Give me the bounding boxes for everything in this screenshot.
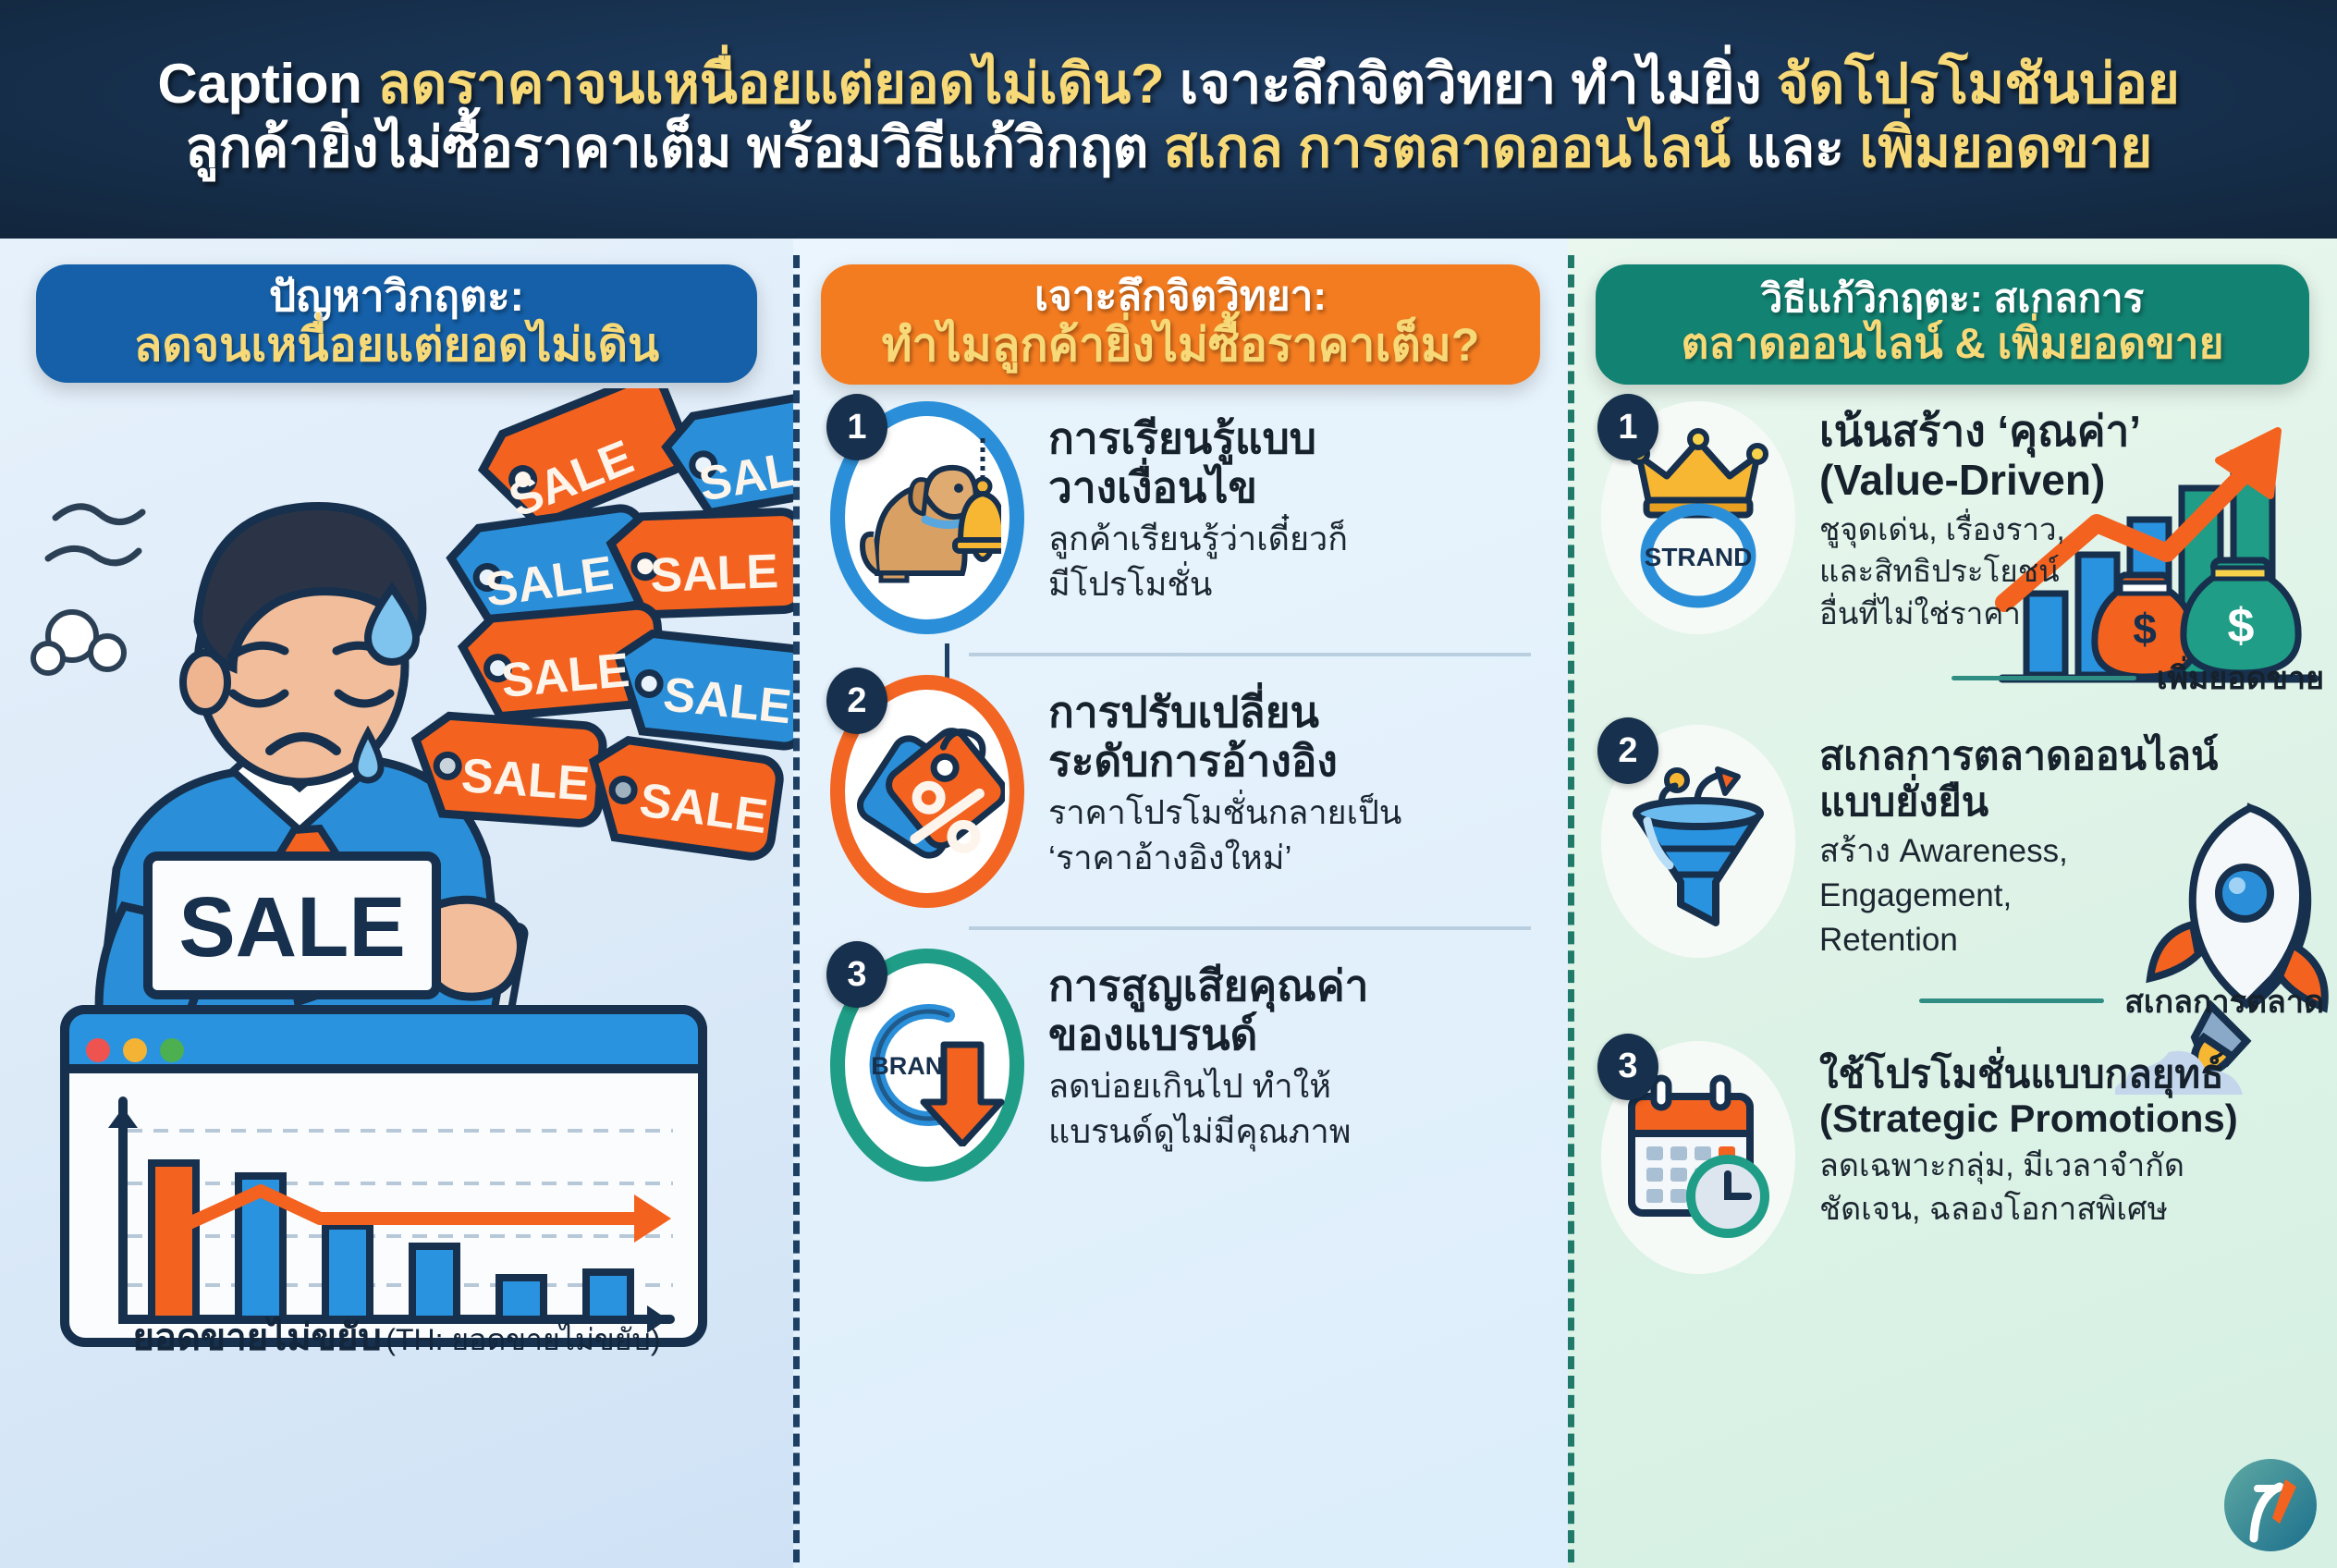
solutions-item-2-mini-label: สเกลการตลาด bbox=[2124, 976, 2324, 1026]
problem-caption: ยอดขายไม่ขยับ (TH: ยอดขายไม่ขยับ) bbox=[0, 1307, 793, 1366]
column-problem-header: ปัญหาวิกฤตะ: ลดจนเหนื่อยแต่ยอดไม่เดิน bbox=[36, 264, 757, 383]
column-problem-subtitle: ลดจนเหนื่อยแต่ยอดไม่เดิน bbox=[134, 319, 659, 371]
solutions-item-2-number: 2 bbox=[1597, 717, 1658, 784]
column-psychology-title: เจาะลึกจิตวิทยา: bbox=[1034, 275, 1327, 319]
strand-badge-label: STRAND bbox=[1645, 543, 1753, 571]
psychology-item-1-title-line2: วางเงื่อนไข bbox=[1048, 463, 1348, 512]
solutions-item-1-desc-line2: และสิทธิประโยชน์ bbox=[1819, 553, 2141, 590]
solutions-item-2-desc-line3: Retention bbox=[1819, 921, 2218, 960]
header-line-2: ลูกค้ายิ่งไม่ซื้อราคาเต็ม พร้อมวิธีแก้วิ… bbox=[28, 118, 2309, 178]
solutions-item-2-title-line1: สเกลการตลาดออนไลน์ bbox=[1819, 734, 2218, 780]
solutions-item-3-title-line1: ใช้โปรโมชั่นแบบกลยุทธ์ bbox=[1819, 1052, 2238, 1097]
psychology-item-3-desc-line2: แบรนด์ดูไม่มีคุณภาพ bbox=[1048, 1111, 1368, 1151]
sale-sign: SALE bbox=[148, 856, 436, 995]
steam-icon bbox=[48, 507, 142, 563]
psychology-item-2-text: การปรับเปลี่ยน ระดับการอ้างอิง ราคาโปรโม… bbox=[1024, 675, 1401, 877]
solutions-item-2-text: สเกลการตลาดออนไลน์ แบบยั่งยืน สร้าง Awar… bbox=[1795, 725, 2218, 960]
column-problem-title: ปัญหาวิกฤตะ: bbox=[269, 273, 524, 320]
problem-caption-sub: (TH: ยอดขายไม่ขยับ) bbox=[385, 1323, 660, 1356]
problem-illustration: SALE SALE SALE SALE SALE SALE SALE SALE bbox=[0, 388, 793, 1387]
column-solutions-header: วิธีแก้วิกฤตะ: สเกลการ ตลาดออนไลน์ & เพิ… bbox=[1596, 264, 2309, 385]
header-highlight-1: ลดราคาจนเหนื่อยแต่ยอดไม่เดิน? bbox=[377, 53, 1164, 115]
salesman-head bbox=[183, 506, 422, 782]
psychology-item-3-text: การสูญเสียคุณค่า ของแบรนด์ ลดบ่อยเกินไป … bbox=[1024, 949, 1368, 1151]
psychology-item-2-icon-wrap: 2 bbox=[830, 675, 1024, 908]
column-psychology: เจาะลึกจิตวิทยา: ทำไมลูกค้ายิ่งไม่ซื้อรา… bbox=[793, 239, 1568, 1568]
psychology-item-2-desc-line2: ‘ราคาอ้างอิงใหม่’ bbox=[1048, 838, 1401, 877]
psychology-separator-2 bbox=[969, 926, 1531, 930]
psychology-item-3-desc-line1: ลดบ่อยเกินไป ทำให้ bbox=[1048, 1066, 1368, 1106]
psychology-item-3-title-line1: การสูญเสียคุณค่า bbox=[1048, 962, 1368, 1011]
columns-container: ปัญหาวิกฤตะ: ลดจนเหนื่อยแต่ยอดไม่เดิน bbox=[0, 239, 2337, 1568]
solutions-item-2-desc-line2: Engagement, bbox=[1819, 876, 2218, 915]
solutions-item-3: 3 bbox=[1601, 1041, 2337, 1274]
solutions-item-3-title-line2: (Strategic Promotions) bbox=[1819, 1096, 2238, 1142]
header-line-1: Caption ลดราคาจนเหนื่อยแต่ยอดไม่เดิน? เจ… bbox=[28, 55, 2309, 115]
solutions-item-1-title-line1: เน้นสร้าง ‘คุณค่า’ bbox=[1819, 407, 2141, 456]
header-mid-text: เจาะลึกจิตวิทยา ทำไมยิ่ง bbox=[1164, 53, 1776, 115]
header-highlight-2: จัดโปรโมชันบ่อย bbox=[1777, 53, 2180, 115]
psychology-item-2-number: 2 bbox=[826, 668, 887, 734]
mini-divider-line bbox=[1952, 676, 2136, 680]
solutions-items: 1 STRAND bbox=[1568, 385, 2337, 1274]
window-close-dot bbox=[86, 1038, 110, 1062]
psychology-item-1-desc-line2: มีโปรโมชั่น bbox=[1048, 564, 1348, 604]
solutions-item-3-desc-line2: ชัดเจน, ฉลองโอกาสพิเศษ bbox=[1819, 1191, 2238, 1229]
mini-divider-line bbox=[1919, 998, 2104, 1003]
psychology-item-1-text: การเรียนรู้แบบ วางเงื่อนไข ลูกค้าเรียนรู… bbox=[1024, 401, 1348, 604]
column-psychology-subtitle: ทำไมลูกค้ายิ่งไม่ซื้อราคาเต็ม? bbox=[882, 319, 1480, 371]
solutions-item-1-desc-line1: ชูจุดเด่น, เรื่องราว, bbox=[1819, 511, 2141, 548]
solutions-item-1: 1 STRAND bbox=[1601, 401, 2337, 634]
solutions-item-3-desc-line1: ลดเฉพาะกลุ่ม, มีเวลาจำกัด bbox=[1819, 1147, 2238, 1185]
psychology-item-2-desc-line1: ราคาโปรโมชั่นกลายเป็น bbox=[1048, 792, 1401, 832]
column-psychology-header: เจาะลึกจิตวิทยา: ทำไมลูกค้ายิ่งไม่ซื้อรา… bbox=[821, 264, 1540, 385]
column-solutions: วิธีแก้วิกฤตะ: สเกลการ ตลาดออนไลน์ & เพิ… bbox=[1568, 239, 2337, 1568]
psychology-item-3-number: 3 bbox=[826, 941, 887, 1008]
solutions-item-1-number: 1 bbox=[1597, 394, 1658, 460]
sale-tag-label: SALE bbox=[459, 749, 591, 812]
sale-tag-label: SALE bbox=[499, 643, 631, 708]
window-minimize-dot bbox=[123, 1038, 147, 1062]
solutions-item-1-text: เน้นสร้าง ‘คุณค่า’ (Value-Driven) ชูจุดเ… bbox=[1795, 401, 2141, 632]
psychology-item-2-title-line2: ระดับการอ้างอิง bbox=[1048, 737, 1401, 786]
header-line2-white-1: ลูกค้ายิ่งไม่ซื้อราคาเต็ม พร้อมวิธีแก้วิ… bbox=[185, 116, 1164, 178]
psychology-item-3: 3 BRAND bbox=[830, 949, 1568, 1182]
header-line2-highlight-1: สเกล การตลาดออนไลน์ bbox=[1164, 116, 1731, 178]
psychology-item-1-number: 1 bbox=[826, 394, 887, 460]
psychology-item-1-desc-line1: ลูกค้าเรียนรู้ว่าเดี๋ยวก็ bbox=[1048, 519, 1348, 558]
psychology-item-1-icon-wrap: 1 bbox=[830, 401, 1024, 634]
psychology-item-3-title-line2: ของแบรนด์ bbox=[1048, 1011, 1368, 1060]
brand-logo-icon bbox=[2221, 1455, 2320, 1555]
header-line2-white-2: และ bbox=[1731, 116, 1860, 178]
sad-salesman-illustration: SALE SALE SALE SALE SALE SALE SALE SALE bbox=[0, 388, 793, 1387]
psychology-item-2-title-line1: การปรับเปลี่ยน bbox=[1048, 688, 1401, 737]
sale-sign-label: SALE bbox=[178, 880, 405, 974]
solutions-item-2-desc-line1: สร้าง Awareness, bbox=[1819, 832, 2218, 871]
header-line2-highlight-2: เพิ่มยอดขาย bbox=[1859, 116, 2152, 178]
solutions-item-3-text: ใช้โปรโมชั่นแบบกลยุทธ์ (Strategic Promot… bbox=[1795, 1041, 2238, 1229]
solutions-item-2-icon-wrap: 2 bbox=[1601, 725, 1795, 958]
bar-3 bbox=[325, 1226, 370, 1319]
solutions-mini-row-1: เพิ่มยอดขาย bbox=[1601, 653, 2337, 703]
column-solutions-title: วิธีแก้วิกฤตะ: สเกลการ bbox=[1761, 277, 2144, 320]
psychology-item-2: 2 bbox=[830, 675, 1568, 908]
header-banner: Caption ลดราคาจนเหนื่อยแต่ยอดไม่เดิน? เจ… bbox=[0, 0, 2337, 239]
column-divider-1 bbox=[793, 255, 800, 1562]
solutions-item-3-icon-wrap: 3 bbox=[1601, 1041, 1795, 1274]
column-problem: ปัญหาวิกฤตะ: ลดจนเหนื่อยแต่ยอดไม่เดิน bbox=[0, 239, 793, 1568]
psychology-separator-1 bbox=[969, 653, 1531, 656]
infographic-page: Caption ลดราคาจนเหนื่อยแต่ยอดไม่เดิน? เจ… bbox=[0, 0, 2337, 1568]
solutions-item-2: 2 bbox=[1601, 725, 2337, 960]
psychology-items: 1 bbox=[793, 385, 1568, 1182]
solutions-item-1-title-line2: (Value-Driven) bbox=[1819, 456, 2141, 505]
solutions-item-1-mini-label: เพิ่มยอดขาย bbox=[2157, 653, 2324, 703]
browser-window bbox=[65, 1010, 703, 1342]
psychology-item-3-icon-wrap: 3 BRAND bbox=[830, 949, 1024, 1182]
sale-tags-cluster: SALE SALE SALE SALE SALE SALE SALE SALE bbox=[411, 388, 793, 859]
solutions-item-2-title-line2: แบบยั่งยืน bbox=[1819, 780, 2218, 827]
psychology-item-1: 1 bbox=[830, 401, 1568, 634]
column-solutions-subtitle: ตลาดออนไลน์ & เพิ่มยอดขาย bbox=[1681, 320, 2223, 368]
sale-tag-label: SALE bbox=[649, 545, 779, 603]
problem-caption-bold: ยอดขายไม่ขยับ bbox=[132, 1317, 381, 1358]
solutions-item-1-desc-line3: อื่นที่ไม่ใช่ราคา bbox=[1819, 595, 2141, 632]
bar-1 bbox=[152, 1163, 196, 1319]
puff-icon bbox=[33, 612, 124, 673]
window-maximize-dot bbox=[160, 1038, 184, 1062]
column-divider-2 bbox=[1568, 255, 1574, 1562]
psychology-item-1-title-line1: การเรียนรู้แบบ bbox=[1048, 414, 1348, 463]
solutions-mini-row-2: สเกลการตลาด bbox=[1601, 976, 2337, 1026]
solutions-item-3-number: 3 bbox=[1597, 1034, 1658, 1100]
header-caption-prefix: Caption bbox=[157, 53, 377, 115]
solutions-item-1-icon-wrap: 1 STRAND bbox=[1601, 401, 1795, 634]
